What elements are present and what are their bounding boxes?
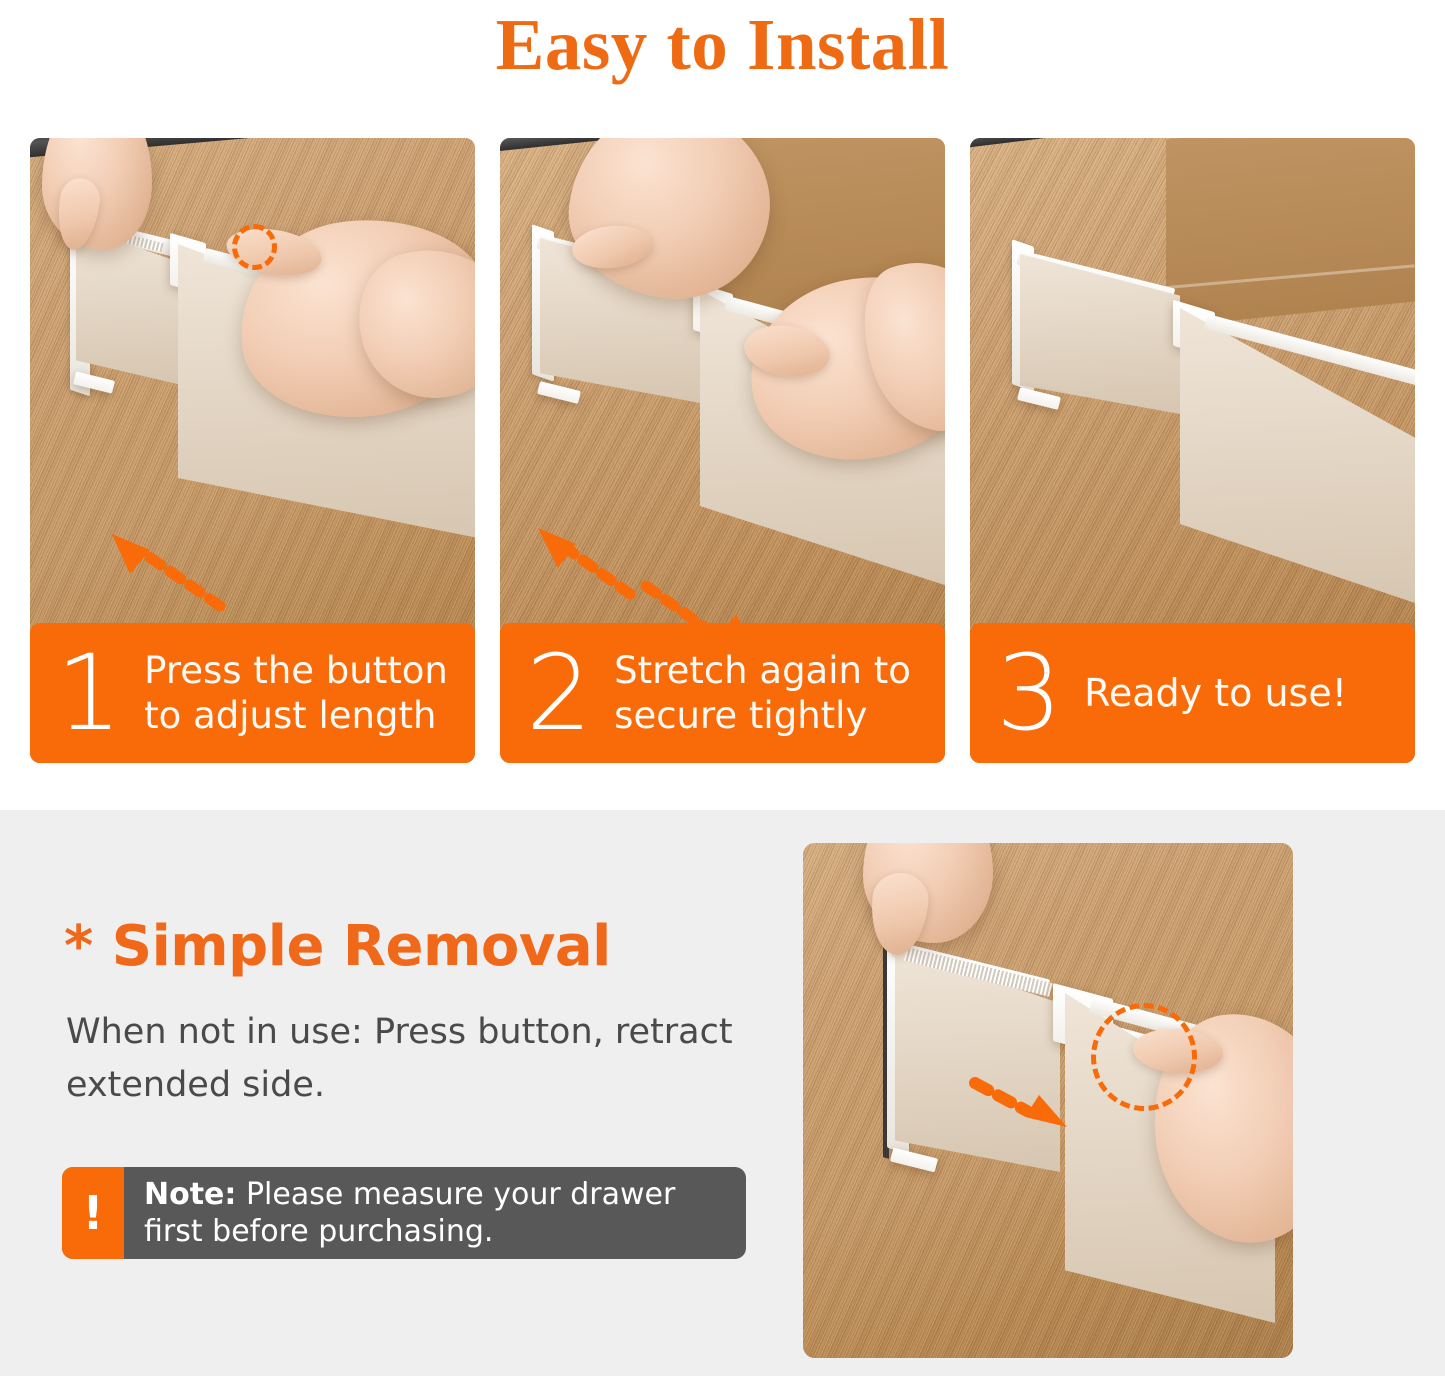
removal-body-line1: When not in use: Press button, retract [66, 1006, 776, 1059]
step-card-3: 3 Ready to use! [970, 138, 1415, 763]
note-text: Note: Please measure your drawer first b… [124, 1167, 746, 1259]
solid-arrow-right [969, 1073, 1079, 1135]
note-label: Note: [144, 1177, 236, 1212]
removal-body: When not in use: Press button, retract e… [66, 1006, 776, 1112]
note-box: ! Note: Please measure your drawer first… [62, 1167, 746, 1259]
step-1-text-line2: to adjust length [144, 693, 448, 738]
step-card-1: 1 Press the button to adjust length [30, 138, 475, 763]
button-highlight-circle [1091, 1003, 1197, 1111]
removal-photo-bg [803, 843, 1293, 1358]
divider-body-left [1020, 254, 1180, 414]
exclamation-mark-icon: ! [62, 1167, 124, 1259]
step-2-text-line2: secure tightly [614, 693, 911, 738]
step-card-2: 2 Stretch again to secure tightly [500, 138, 945, 763]
infographic-page: Easy to Install [0, 0, 1445, 1376]
removal-title: * Simple Removal [64, 914, 611, 980]
step-3-number: 3 [996, 641, 1062, 745]
dashed-arrow-up-left [524, 526, 654, 606]
step-1-number: 1 [56, 641, 122, 745]
divider-foot-left [890, 1148, 938, 1173]
step-1-caption: 1 Press the button to adjust length [30, 623, 475, 763]
step-3-caption: 3 Ready to use! [970, 623, 1415, 763]
divider-foot-left [537, 381, 581, 404]
removal-section: * Simple Removal When not in use: Press … [0, 810, 1445, 1376]
dashed-arrow-up-left [92, 530, 252, 620]
steps-row: 1 Press the button to adjust length [30, 138, 1415, 763]
step-1-text: Press the button to adjust length [144, 648, 448, 738]
step-1-text-line1: Press the button [144, 648, 448, 693]
step-2-text: Stretch again to secure tightly [614, 648, 911, 738]
install-section: Easy to Install [0, 0, 1445, 810]
step-3-text: Ready to use! [1084, 671, 1347, 716]
button-highlight-circle [232, 224, 277, 270]
step-2-number: 2 [526, 641, 592, 745]
page-title: Easy to Install [0, 2, 1445, 88]
step-2-caption: 2 Stretch again to secure tightly [500, 623, 945, 763]
removal-body-line2: extended side. [66, 1059, 776, 1112]
step-2-text-line1: Stretch again to [614, 648, 911, 693]
removal-photo [803, 843, 1293, 1358]
